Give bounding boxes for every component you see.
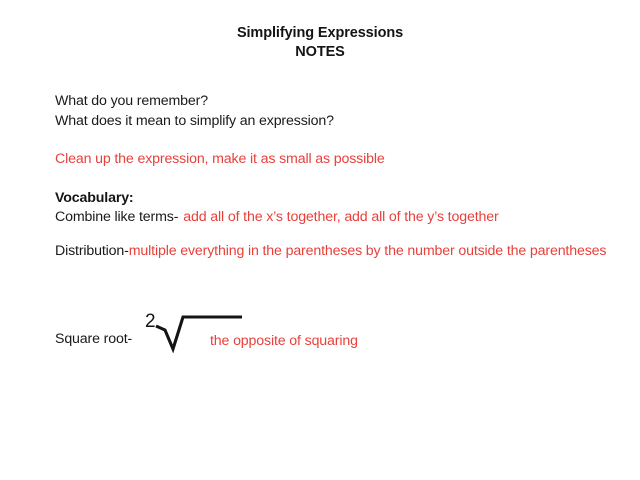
title-line-1: Simplifying Expressions xyxy=(0,24,640,43)
term-label-square-root: Square root- xyxy=(55,330,132,349)
title-line-2: NOTES xyxy=(0,43,640,62)
slide-title: Simplifying Expressions NOTES xyxy=(0,24,640,62)
term-definition-square-root: the opposite of squaring xyxy=(210,332,358,351)
spacer-3 xyxy=(55,228,615,242)
slide-body: What do you remember? What does it mean … xyxy=(55,92,615,261)
term-definition-distribution: multiple everything in the parentheses b… xyxy=(129,243,607,259)
vocabulary-term-distribution: Distribution-multiple everything in the … xyxy=(55,242,615,262)
svg-text:2: 2 xyxy=(145,311,156,332)
answer-line-1: Clean up the expression, make it as smal… xyxy=(55,150,615,170)
question-line-1: What do you remember? xyxy=(55,92,615,112)
vocabulary-term-combine-like-terms: Combine like terms-add all of the x’s to… xyxy=(55,208,615,228)
spacer-1 xyxy=(55,131,615,150)
term-label-distribution: Distribution- xyxy=(55,243,129,259)
spacer-2 xyxy=(55,170,615,189)
question-line-2: What does it mean to simplify an express… xyxy=(55,112,615,132)
vocabulary-heading: Vocabulary: xyxy=(55,189,615,209)
slide-canvas: Simplifying Expressions NOTES What do yo… xyxy=(0,0,640,480)
term-definition-combine-like-terms: add all of the x’s together, add all of … xyxy=(183,209,498,225)
vocabulary-term-square-root: Square root- 2 the opposite of squaring xyxy=(55,330,615,380)
term-label-combine-like-terms: Combine like terms- xyxy=(55,209,178,225)
